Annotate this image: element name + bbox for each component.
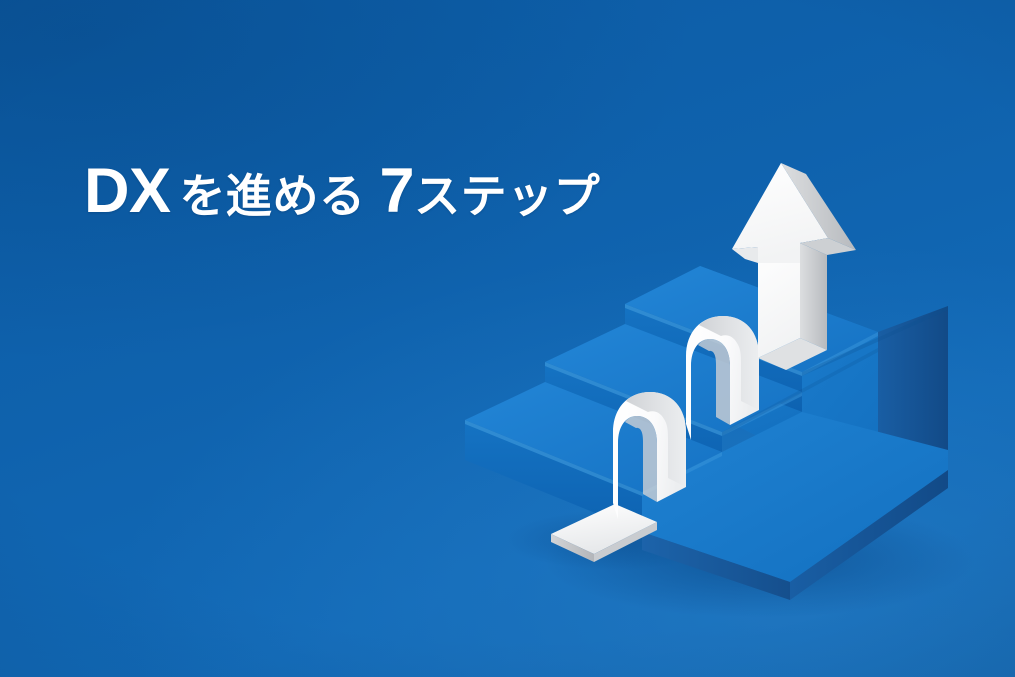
title-part-susumeru: を進める: [180, 170, 366, 222]
page-title: DXを進める7ステップ: [84, 160, 600, 223]
title-part-seven: 7: [380, 156, 415, 226]
poster-canvas: DXを進める7ステップ: [0, 0, 1015, 677]
background-gradient: [0, 0, 1015, 677]
title-part-dx: DX: [84, 156, 171, 226]
title-part-step: ステップ: [414, 170, 600, 222]
